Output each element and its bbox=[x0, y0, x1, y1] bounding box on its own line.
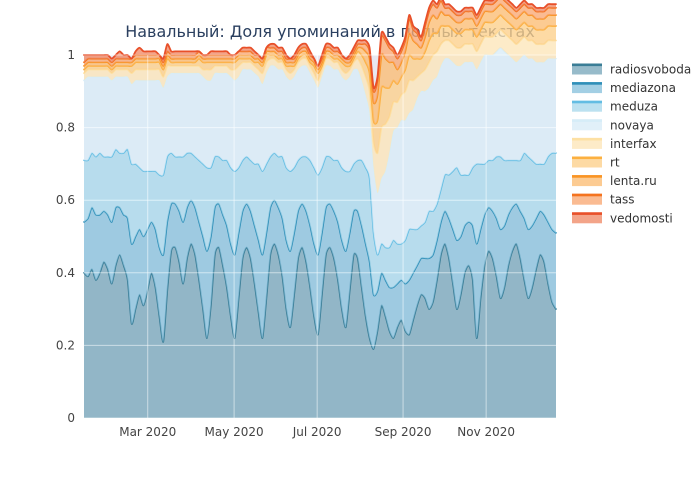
x-tick-label: Nov 2020 bbox=[457, 425, 515, 439]
x-tick-label: Sep 2020 bbox=[375, 425, 432, 439]
legend-item-radiosvoboda[interactable]: radiosvoboda bbox=[572, 63, 691, 77]
y-tick-label: 0 bbox=[67, 411, 75, 425]
legend-label: vedomosti bbox=[610, 211, 673, 225]
y-tick-label: 0.8 bbox=[56, 121, 75, 135]
legend-item-meduza[interactable]: meduza bbox=[572, 100, 658, 114]
legend-swatch-line bbox=[572, 82, 602, 85]
legend-label: meduza bbox=[610, 100, 658, 114]
y-tick-label: 0.2 bbox=[56, 338, 75, 352]
legend-label: tass bbox=[610, 193, 635, 207]
x-tick-label: Jul 2020 bbox=[292, 425, 342, 439]
legend-swatch-line bbox=[572, 194, 602, 197]
legend-swatch-line bbox=[572, 101, 602, 104]
area-series-group bbox=[84, 0, 556, 418]
legend-label: radiosvoboda bbox=[610, 63, 691, 77]
legend-swatch-line bbox=[572, 157, 602, 160]
legend-label: interfax bbox=[610, 137, 657, 151]
x-tick-label: Mar 2020 bbox=[119, 425, 176, 439]
legend-label: mediazona bbox=[610, 81, 676, 95]
y-tick-label: 1 bbox=[67, 48, 75, 62]
legend-item-lenta.ru[interactable]: lenta.ru bbox=[572, 174, 657, 188]
y-tick-label: 0.4 bbox=[56, 266, 75, 280]
legend-item-interfax[interactable]: interfax bbox=[572, 137, 657, 151]
legend-label: rt bbox=[610, 156, 620, 170]
legend-swatch-line bbox=[572, 175, 602, 178]
legend-label: novaya bbox=[610, 118, 654, 132]
legend-label: lenta.ru bbox=[610, 174, 657, 188]
legend-swatch-line bbox=[572, 212, 602, 215]
y-tick-label: 0.6 bbox=[56, 193, 75, 207]
legend-item-mediazona[interactable]: mediazona bbox=[572, 81, 676, 95]
legend-swatch-line bbox=[572, 64, 602, 67]
legend-item-rt[interactable]: rt bbox=[572, 156, 620, 170]
chart-canvas: Навальный: Доля упоминаний в полных текс… bbox=[0, 0, 700, 500]
legend-swatch-line bbox=[572, 119, 602, 122]
x-tick-label: May 2020 bbox=[205, 425, 264, 439]
legend-swatch-line bbox=[572, 138, 602, 141]
legend-item-novaya[interactable]: novaya bbox=[572, 118, 654, 132]
legend-item-vedomosti[interactable]: vedomosti bbox=[572, 211, 673, 225]
